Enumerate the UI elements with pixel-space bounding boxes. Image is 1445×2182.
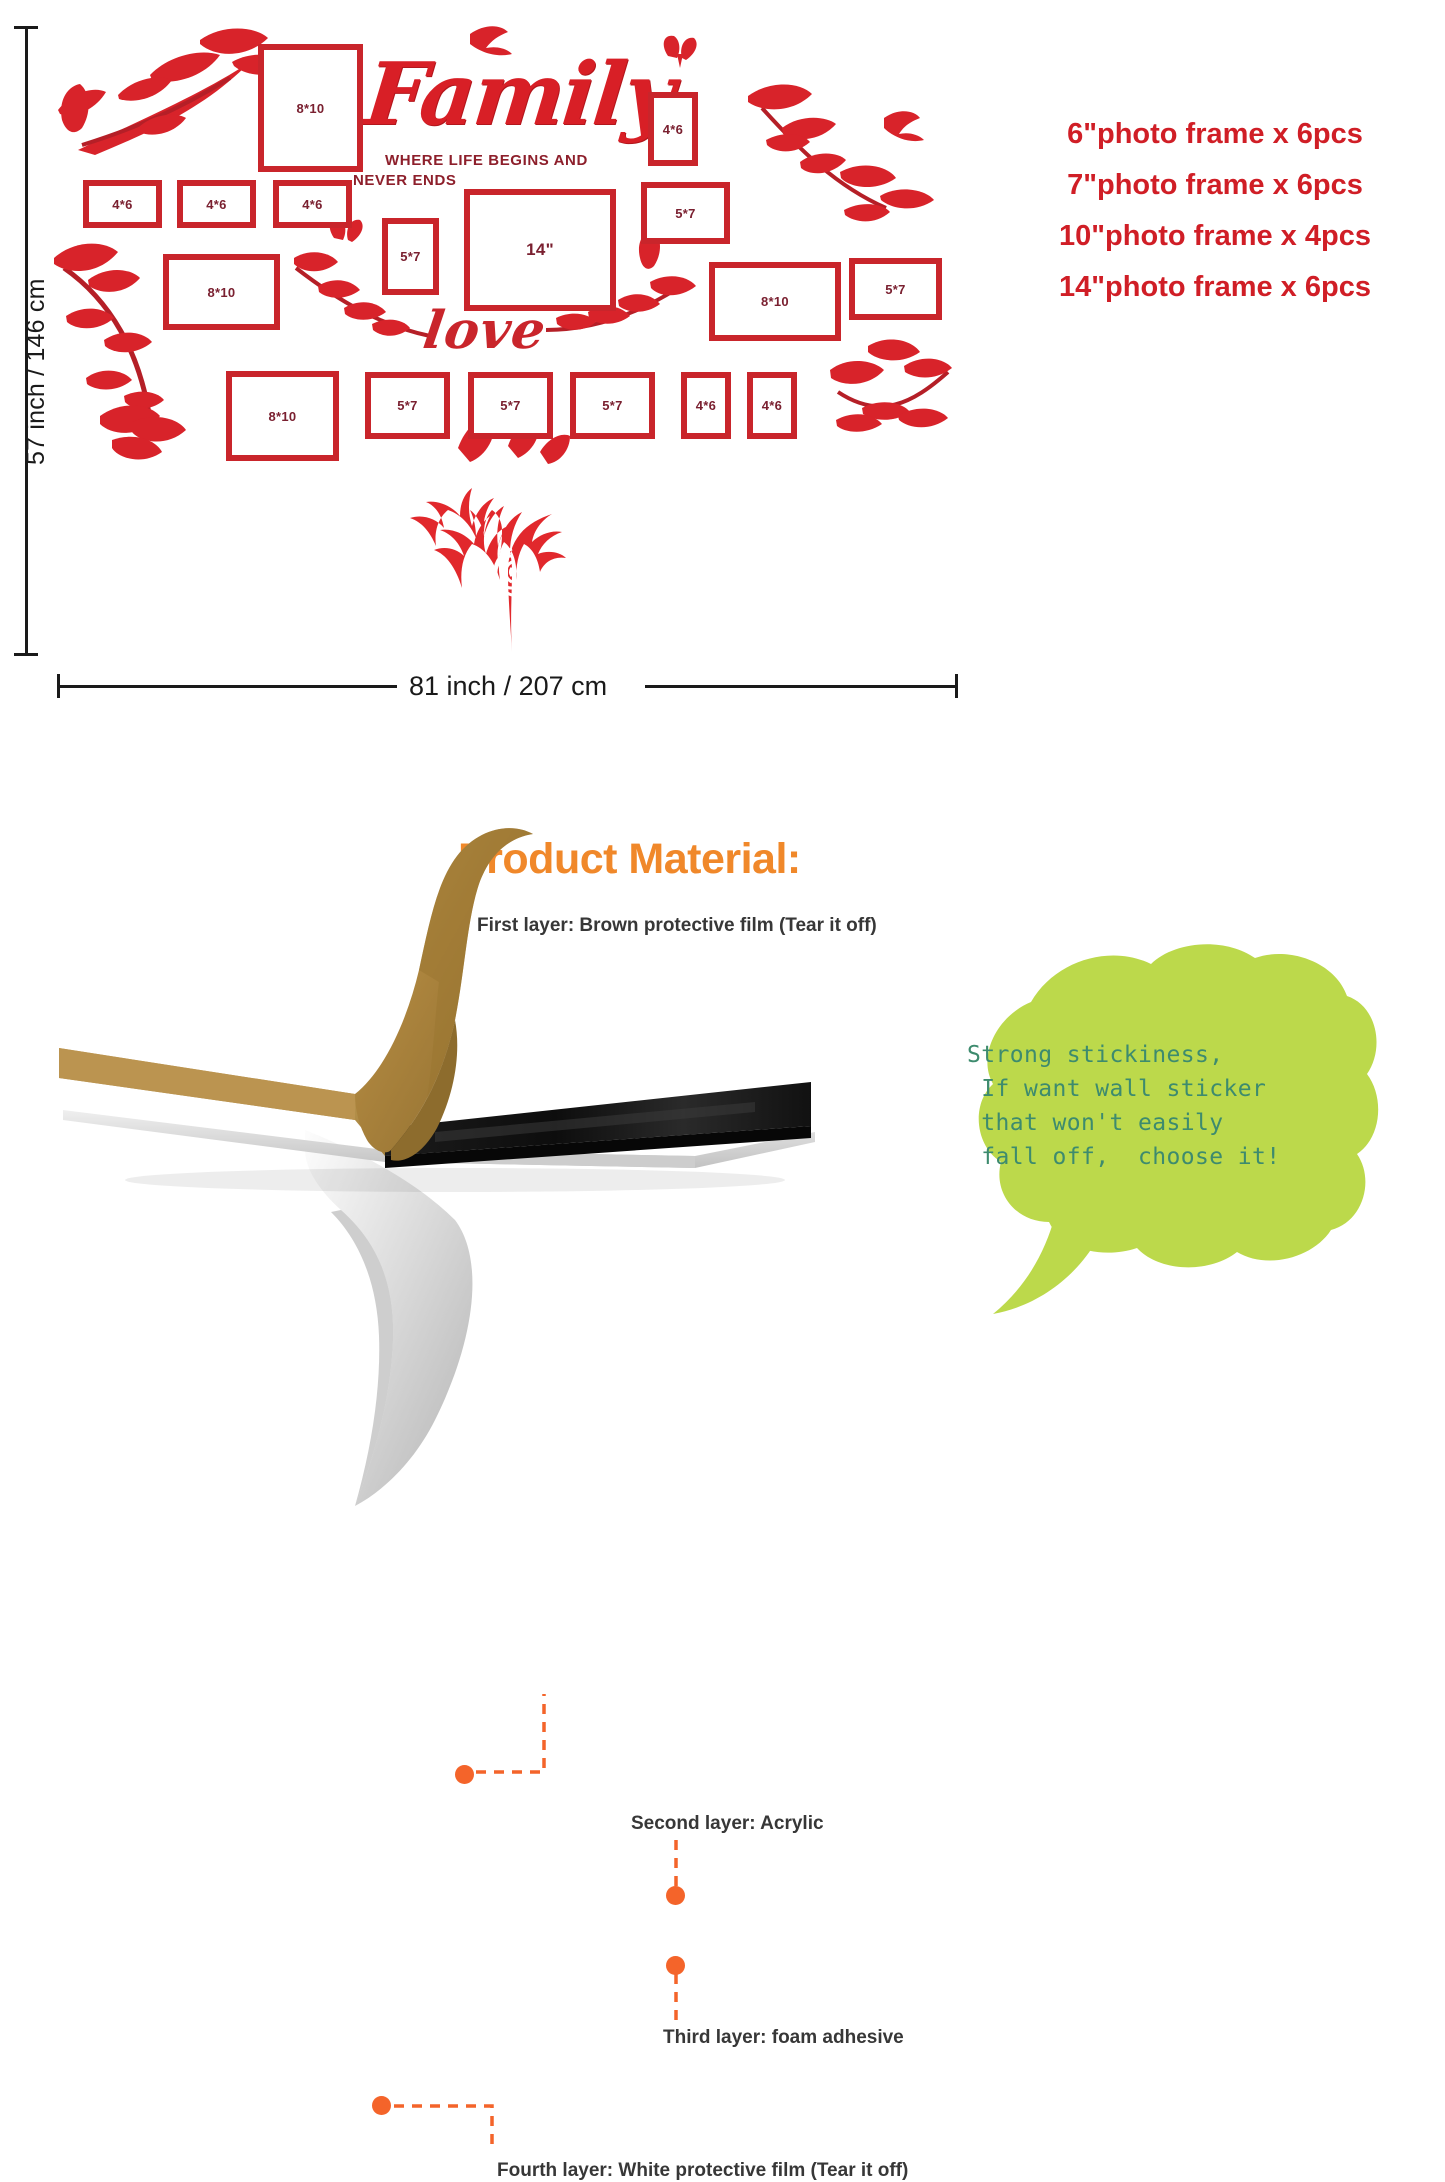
photo-frame-size-label: 8*10 [297, 101, 325, 116]
fourth-layer-leader-line [392, 2100, 512, 2150]
width-dimension-label: 81 inch / 207 cm [409, 671, 607, 702]
second-layer-leader-line [672, 1834, 684, 1890]
first-layer-leader-line [474, 1690, 584, 1780]
third-layer-label: Third layer: foam adhesive [663, 2027, 904, 2049]
photo-frame-size-label: 8*10 [269, 409, 297, 424]
second-layer-label: Second layer: Acrylic [631, 1813, 824, 1835]
photo-frame-size-label: 4*6 [762, 398, 782, 413]
photo-frame: 5*7 [468, 372, 553, 439]
wall-sticker-diagram: 57 inch / 146 cm 81 inch / 207 cm [0, 0, 1445, 740]
frame-count-item: 10"photo frame x 4pcs [1000, 220, 1430, 253]
first-layer-callout-dot [455, 1765, 474, 1784]
photo-frame: 4*6 [177, 180, 256, 228]
speech-bubble-line: If want wall sticker [967, 1072, 1347, 1106]
width-dimension-cap-right [955, 674, 958, 698]
photo-frame-size-label: 4*6 [302, 197, 322, 212]
product-material-section: Product Material: [0, 760, 1445, 1525]
photo-frame-size-label: 4*6 [112, 197, 132, 212]
photo-frame: 4*6 [681, 372, 731, 439]
photo-frame-size-label: 5*7 [397, 398, 417, 413]
photo-frame: 5*7 [849, 258, 942, 320]
photo-frame-size-label: 8*10 [761, 294, 789, 309]
width-dimension-line-right [645, 685, 955, 688]
photo-frame-size-label: 8*10 [208, 285, 236, 300]
width-dimension-line-left [57, 685, 397, 688]
photo-frame-size-label: 5*7 [500, 398, 520, 413]
third-layer-leader-line [672, 1972, 684, 2024]
frame-count-list: 6"photo frame x 6pcs7"photo frame x 6pcs… [1000, 118, 1430, 322]
photo-frame-size-label: 14" [526, 240, 554, 260]
speech-bubble-line: that won't easily [967, 1106, 1347, 1140]
photo-frame: 4*6 [273, 180, 352, 228]
photo-frame-size-label: 4*6 [696, 398, 716, 413]
family-subtitle-line2: NEVER ENDS [353, 172, 457, 189]
frame-count-item: 14"photo frame x 6pcs [1000, 271, 1430, 304]
photo-frame: 8*10 [163, 254, 280, 330]
photo-frame-size-label: 5*7 [400, 249, 420, 264]
fourth-layer-callout-dot [372, 2096, 391, 2115]
speech-bubble-line: fall off, choose it! [967, 1140, 1347, 1174]
photo-frame: 5*7 [570, 372, 655, 439]
photo-frame: 5*7 [365, 372, 450, 439]
first-layer-label: First layer: Brown protective film (Tear… [477, 915, 877, 937]
family-tree-icon [352, 452, 632, 652]
photo-frame-size-label: 4*6 [663, 122, 683, 137]
frame-count-item: 6"photo frame x 6pcs [1000, 118, 1430, 151]
frame-count-item: 7"photo frame x 6pcs [1000, 169, 1430, 202]
photo-frame: 4*6 [83, 180, 162, 228]
photo-frame: 8*10 [709, 262, 841, 341]
photo-frame-size-label: 5*7 [675, 206, 695, 221]
photo-frame: 5*7 [382, 218, 439, 295]
speech-bubble-line: Strong stickiness, [967, 1038, 1347, 1072]
photo-frame-size-label: 5*7 [885, 282, 905, 297]
stickiness-speech-bubble: Strong stickiness, If want wall sticker … [915, 940, 1385, 1330]
photo-frame-size-label: 4*6 [206, 197, 226, 212]
photo-frame-size-label: 5*7 [602, 398, 622, 413]
photo-frame: 4*6 [747, 372, 797, 439]
photo-frame: 14" [464, 189, 616, 311]
photo-frame: 5*7 [641, 182, 730, 244]
family-script-headline: Family [361, 44, 678, 145]
photo-frame: 8*10 [226, 371, 339, 461]
photo-frame: 4*6 [648, 92, 698, 166]
photo-frame: 8*10 [258, 44, 363, 172]
family-subtitle-line1: WHERE LIFE BEGINS AND [385, 152, 588, 169]
fourth-layer-label: Fourth layer: White protective film (Tea… [497, 2160, 908, 2182]
speech-bubble-text: Strong stickiness, If want wall sticker … [967, 1038, 1347, 1174]
